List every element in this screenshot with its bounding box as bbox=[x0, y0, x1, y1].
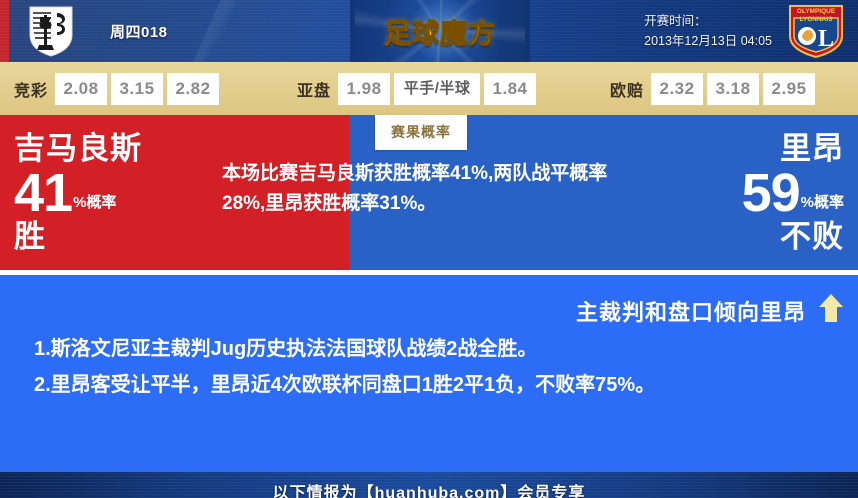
odds-cell-home[interactable]: 2.32 bbox=[651, 73, 703, 105]
odds-cell-home[interactable]: 1.98 bbox=[338, 73, 390, 105]
odds-group-label: 欧赔 bbox=[610, 77, 644, 101]
away-outcome-label: 不败 bbox=[742, 221, 844, 252]
away-probability-unit: %概率 bbox=[801, 194, 844, 211]
home-team-name: 吉马良斯 bbox=[14, 133, 142, 164]
away-team-name: 里昂 bbox=[742, 133, 844, 164]
analysis-line-2: 2.里昂客受让平半，里昂近4次欧联杯同盘口1胜2平1负，不败率75%。 bbox=[34, 367, 838, 403]
kickoff-info: 开赛时间： 2013年12月13日 04:05 bbox=[644, 11, 772, 51]
accent-stripe bbox=[0, 0, 9, 62]
svg-text:L: L bbox=[818, 26, 834, 52]
odds-group-jingcai: 竞彩 2.08 3.15 2.82 bbox=[14, 73, 223, 105]
odds-group-asian: 亚盘 1.98 平手/半球 1.84 bbox=[297, 73, 540, 105]
match-preview-card: 周四018 足球魔方 开赛时间： 2013年12月13日 04:05 OLYMP… bbox=[0, 0, 858, 498]
away-team-block: 里昂 59%概率 不败 bbox=[742, 133, 844, 252]
odds-cell-handicap[interactable]: 平手/半球 bbox=[394, 73, 480, 105]
odds-cell-draw[interactable]: 3.15 bbox=[111, 73, 163, 105]
odds-group-european: 欧赔 2.32 3.18 2.95 bbox=[610, 73, 819, 105]
olympique-lyonnais-crest: OLYMPIQUE LYONNAIS L bbox=[788, 4, 844, 58]
analysis-section: 主裁判和盘口倾向里昂 1.斯洛文尼亚主裁判Jug历史执法法国球队战绩2战全胜。 … bbox=[0, 275, 858, 472]
home-outcome-label: 胜 bbox=[14, 221, 142, 252]
home-probability-unit: %概率 bbox=[73, 194, 116, 211]
kickoff-value: 2013年12月13日 04:05 bbox=[644, 31, 772, 51]
probability-tab[interactable]: 赛果概率 bbox=[375, 115, 467, 150]
probability-description: 本场比赛吉马良斯获胜概率41%,两队战平概率28%,里昂获胜概率31%。 bbox=[222, 159, 622, 219]
match-round-label: 周四018 bbox=[110, 21, 168, 42]
odds-cell-away[interactable]: 1.84 bbox=[484, 73, 536, 105]
odds-bar: 竞彩 2.08 3.15 2.82 亚盘 1.98 平手/半球 1.84 欧赔 … bbox=[0, 62, 858, 115]
probability-section: 吉马良斯 41%概率 胜 里昂 59%概率 不败 赛果概率 本场比赛吉马良斯获胜… bbox=[0, 115, 858, 270]
away-probability-value: 59 bbox=[742, 163, 800, 223]
brand-logo: 足球魔方 bbox=[350, 0, 530, 62]
svg-text:OLYMPIQUE: OLYMPIQUE bbox=[797, 8, 836, 15]
odds-group-label: 亚盘 bbox=[297, 77, 331, 101]
odds-cell-draw[interactable]: 3.18 bbox=[707, 73, 759, 105]
odds-cell-home[interactable]: 2.08 bbox=[55, 73, 107, 105]
kickoff-label: 开赛时间： bbox=[644, 11, 772, 31]
home-probability-value-row: 41%概率 bbox=[14, 166, 142, 220]
odds-cell-away[interactable]: 2.82 bbox=[167, 73, 219, 105]
svg-text:LYONNAIS: LYONNAIS bbox=[800, 16, 834, 23]
away-probability-value-row: 59%概率 bbox=[742, 166, 844, 220]
brand-logo-text: 足球魔方 bbox=[384, 12, 496, 51]
analysis-line-1: 1.斯洛文尼亚主裁判Jug历史执法法国球队战绩2战全胜。 bbox=[34, 331, 838, 367]
arrow-up-icon bbox=[818, 293, 844, 323]
odds-cell-away[interactable]: 2.95 bbox=[763, 73, 815, 105]
home-probability-value: 41 bbox=[14, 163, 72, 223]
footer-text: 以下情报为【huanhuba.com】会员专享 bbox=[273, 479, 586, 498]
match-header: 周四018 足球魔方 开赛时间： 2013年12月13日 04:05 OLYMP… bbox=[0, 0, 858, 62]
footer-bar: 以下情报为【huanhuba.com】会员专享 bbox=[0, 472, 858, 498]
analysis-heading: 主裁判和盘口倾向里昂 bbox=[576, 295, 806, 327]
vitoria-guimaraes-crest bbox=[27, 5, 75, 57]
odds-group-label: 竞彩 bbox=[14, 77, 48, 101]
home-team-block: 吉马良斯 41%概率 胜 bbox=[14, 133, 142, 252]
analysis-body: 1.斯洛文尼亚主裁判Jug历史执法法国球队战绩2战全胜。 2.里昂客受让平半，里… bbox=[34, 331, 838, 403]
